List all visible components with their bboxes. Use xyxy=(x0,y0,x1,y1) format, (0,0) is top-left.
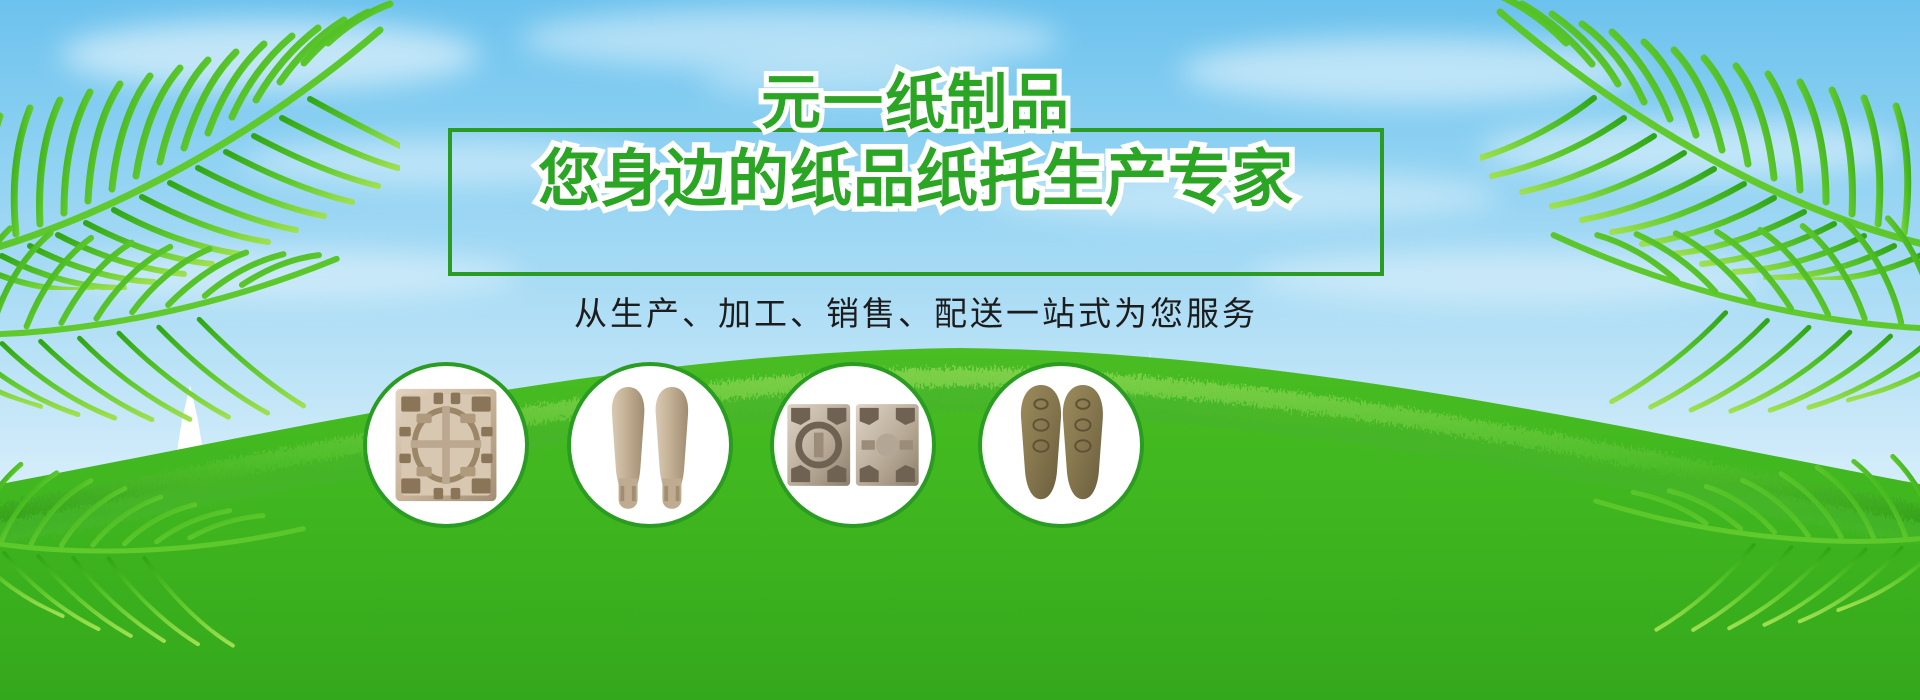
molded-pulp-square-tray-icon xyxy=(367,366,525,524)
product-circle-molded-pulp-shoe-insert-pair[interactable] xyxy=(978,362,1144,528)
promo-banner: 元一纸制品 您身边的纸品纸托生产专家 从生产、加工、销售、配送一站式为您服务 xyxy=(0,0,1920,700)
product-circle-molded-pulp-square-tray[interactable] xyxy=(363,362,529,528)
molded-pulp-shoe-insert-pair-icon xyxy=(982,366,1140,524)
molded-pulp-shoe-tree-pair-icon xyxy=(571,366,729,524)
product-circle-group xyxy=(0,0,1920,700)
product-circle-molded-pulp-double-tray[interactable] xyxy=(770,362,936,528)
product-circle-molded-pulp-shoe-tree-pair[interactable] xyxy=(567,362,733,528)
molded-pulp-double-tray-icon xyxy=(774,366,932,524)
